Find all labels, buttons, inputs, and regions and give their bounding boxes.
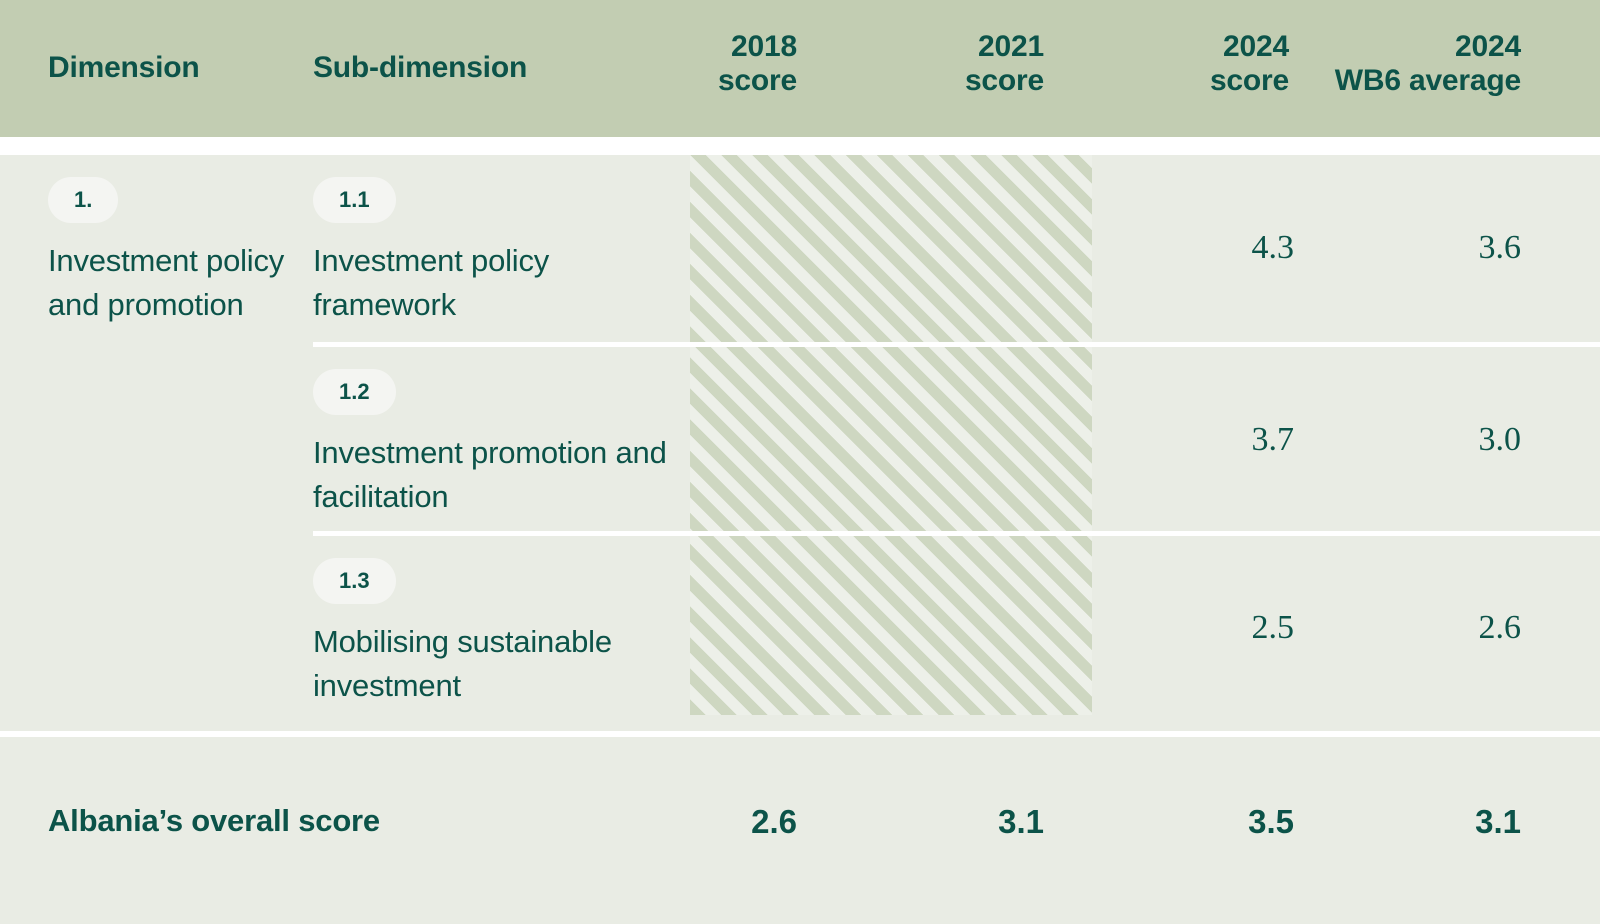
total-score-2018: 2.6 (751, 805, 797, 838)
total-score-2024: 3.5 (1248, 805, 1294, 838)
score-2024: 2.5 (1252, 611, 1295, 645)
sub-dimension-name: Investment policy framework (313, 239, 683, 327)
scorecard-table: Dimension Sub-dimension 2018 score 2021 … (0, 0, 1600, 924)
table-row: 1.1 Investment policy framework 4.3 3.6 (0, 155, 1600, 347)
column-header-2024-score: 2024 score (1210, 30, 1289, 98)
total-row: Albania’s overall score 2.6 3.1 3.5 3.1 (0, 737, 1600, 924)
total-score-2024-wb6-average: 3.1 (1475, 805, 1521, 838)
table-row: 1.3 Mobilising sustainable investment 2.… (0, 536, 1600, 715)
table-header-row: Dimension Sub-dimension 2018 score 2021 … (0, 0, 1600, 137)
sub-dimension-cell: 1.1 Investment policy framework (313, 177, 683, 327)
sub-dimension-cell: 1.3 Mobilising sustainable investment (313, 558, 683, 708)
column-header-2024-wb6-average: 2024 WB6 average (1335, 30, 1521, 98)
sub-dimension-name: Mobilising sustainable investment (313, 620, 683, 708)
total-row-label: Albania’s overall score (48, 805, 380, 836)
sub-dimension-cell: 1.2 Investment promotion and facilitatio… (313, 369, 683, 519)
score-2024: 3.7 (1252, 423, 1295, 457)
column-header-dimension: Dimension (48, 51, 200, 85)
score-2024-wb6-average: 3.0 (1479, 423, 1522, 457)
table-row: 1.2 Investment promotion and facilitatio… (0, 347, 1600, 536)
sub-dimension-number-badge: 1.3 (313, 558, 396, 604)
score-2024-wb6-average: 2.6 (1479, 611, 1522, 645)
table-body: 1. Investment policy and promotion 1.1 I… (0, 155, 1600, 735)
column-header-sub-dimension: Sub-dimension (313, 51, 527, 85)
sub-dimension-name: Investment promotion and facilitation (313, 431, 683, 519)
sub-dimension-number-badge: 1.2 (313, 369, 396, 415)
column-header-2018-score: 2018 score (718, 30, 797, 98)
column-header-2021-score: 2021 score (965, 30, 1044, 98)
total-score-2021: 3.1 (998, 805, 1044, 838)
score-2024: 4.3 (1252, 231, 1295, 265)
score-2024-wb6-average: 3.6 (1479, 231, 1522, 265)
sub-dimension-number-badge: 1.1 (313, 177, 396, 223)
